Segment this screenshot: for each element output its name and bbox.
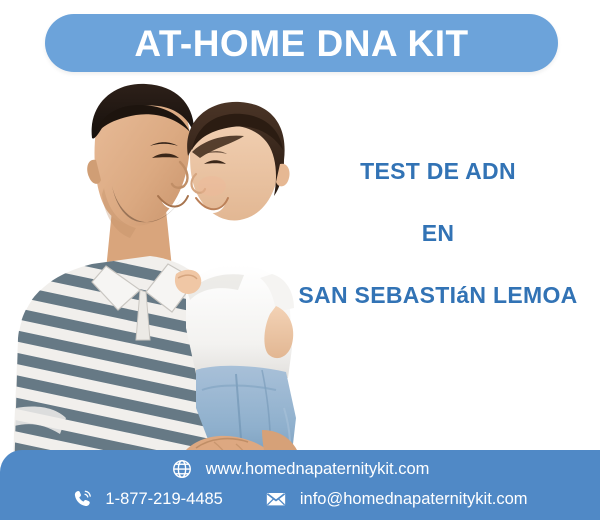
phone-text: 1-877-219-4485 bbox=[105, 491, 222, 508]
website-text: www.homednapaternitykit.com bbox=[206, 461, 430, 478]
globe-icon bbox=[171, 458, 193, 480]
phone-item[interactable]: 1-877-219-4485 bbox=[72, 488, 222, 510]
headline-line-3-location: SAN SEBASTIáN LEMOA bbox=[286, 284, 590, 307]
footer-contact-bar: www.homednapaternitykit.com 1-877-219-44… bbox=[0, 450, 600, 520]
headline-block: TEST DE ADN EN SAN SEBASTIáN LEMOA bbox=[286, 160, 590, 307]
footer-website-row: www.homednapaternitykit.com bbox=[0, 458, 600, 480]
dna-kit-banner: AT-HOME DNA KIT bbox=[0, 0, 600, 520]
father-and-child-photo-icon bbox=[0, 78, 330, 478]
website-item[interactable]: www.homednapaternitykit.com bbox=[171, 458, 430, 480]
email-text: info@homednapaternitykit.com bbox=[300, 491, 528, 508]
hero-photo bbox=[0, 78, 330, 478]
headline-line-2: EN bbox=[286, 222, 590, 245]
headline-line-1: TEST DE ADN bbox=[286, 160, 590, 183]
envelope-icon bbox=[265, 488, 287, 510]
footer-contact-row: 1-877-219-4485 info@homednapaternitykit.… bbox=[0, 488, 600, 510]
email-item[interactable]: info@homednapaternitykit.com bbox=[265, 488, 528, 510]
phone-icon bbox=[72, 488, 94, 510]
header-pill: AT-HOME DNA KIT bbox=[45, 14, 558, 72]
page-title: AT-HOME DNA KIT bbox=[134, 25, 468, 62]
